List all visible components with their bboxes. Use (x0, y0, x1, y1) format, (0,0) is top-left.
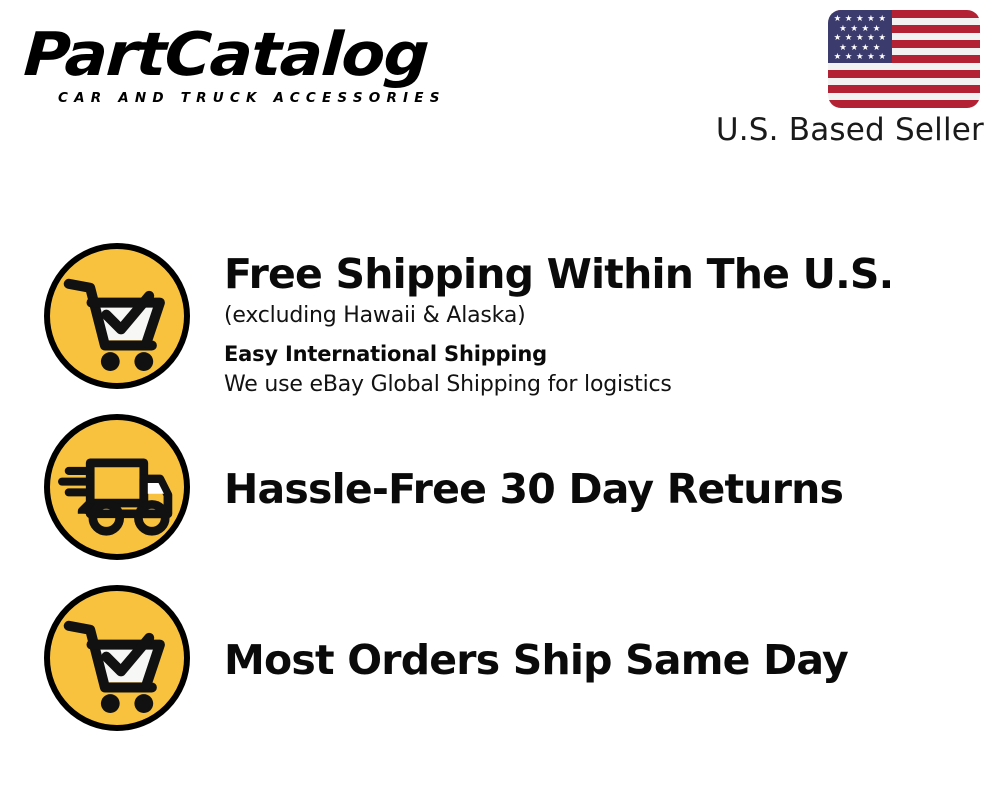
feature-row: Hassle-Free 30 Day Returns (0, 414, 1000, 560)
feature-title: Hassle-Free 30 Day Returns (224, 464, 1000, 514)
feature-row: Most Orders Ship Same Day (0, 585, 1000, 731)
feature-text-block: Free Shipping Within The U.S. (excluding… (190, 243, 1000, 401)
brand-wordmark: PartCatalog (22, 22, 524, 88)
feature-secondary-subtitle: We use eBay Global Shipping for logistic… (224, 369, 1000, 401)
feature-title: Free Shipping Within The U.S. (224, 249, 1000, 299)
feature-text-block: Hassle-Free 30 Day Returns (190, 414, 1000, 514)
feature-row: Free Shipping Within The U.S. (excluding… (0, 243, 1000, 401)
promo-banner: PartCatalog CAR AND TRUCK ACCESSORIES ★★ (0, 0, 1000, 800)
partcatalog-logo: PartCatalog CAR AND TRUCK ACCESSORIES (24, 22, 494, 106)
us-flag-icon: ★★★★★ ★★★★ ★★★★★ ★★★★ ★★★★★ (828, 10, 980, 108)
shopping-cart-check-icon (44, 585, 190, 731)
us-based-seller-badge: ★★★★★ ★★★★ ★★★★★ ★★★★ ★★★★★ U.S. Based S… (714, 10, 984, 148)
feature-subtitle: (excluding Hawaii & Alaska) (224, 299, 1000, 333)
feature-title: Most Orders Ship Same Day (224, 635, 1000, 685)
brand-tagline: CAR AND TRUCK ACCESSORIES (58, 90, 494, 106)
feature-text-block: Most Orders Ship Same Day (190, 585, 1000, 685)
fast-delivery-truck-icon (44, 414, 190, 560)
shopping-cart-check-icon (44, 243, 190, 389)
us-based-seller-label: U.S. Based Seller (714, 112, 984, 148)
banner-header: PartCatalog CAR AND TRUCK ACCESSORIES ★★ (0, 0, 1000, 180)
feature-secondary-title: Easy International Shipping (224, 339, 1000, 369)
